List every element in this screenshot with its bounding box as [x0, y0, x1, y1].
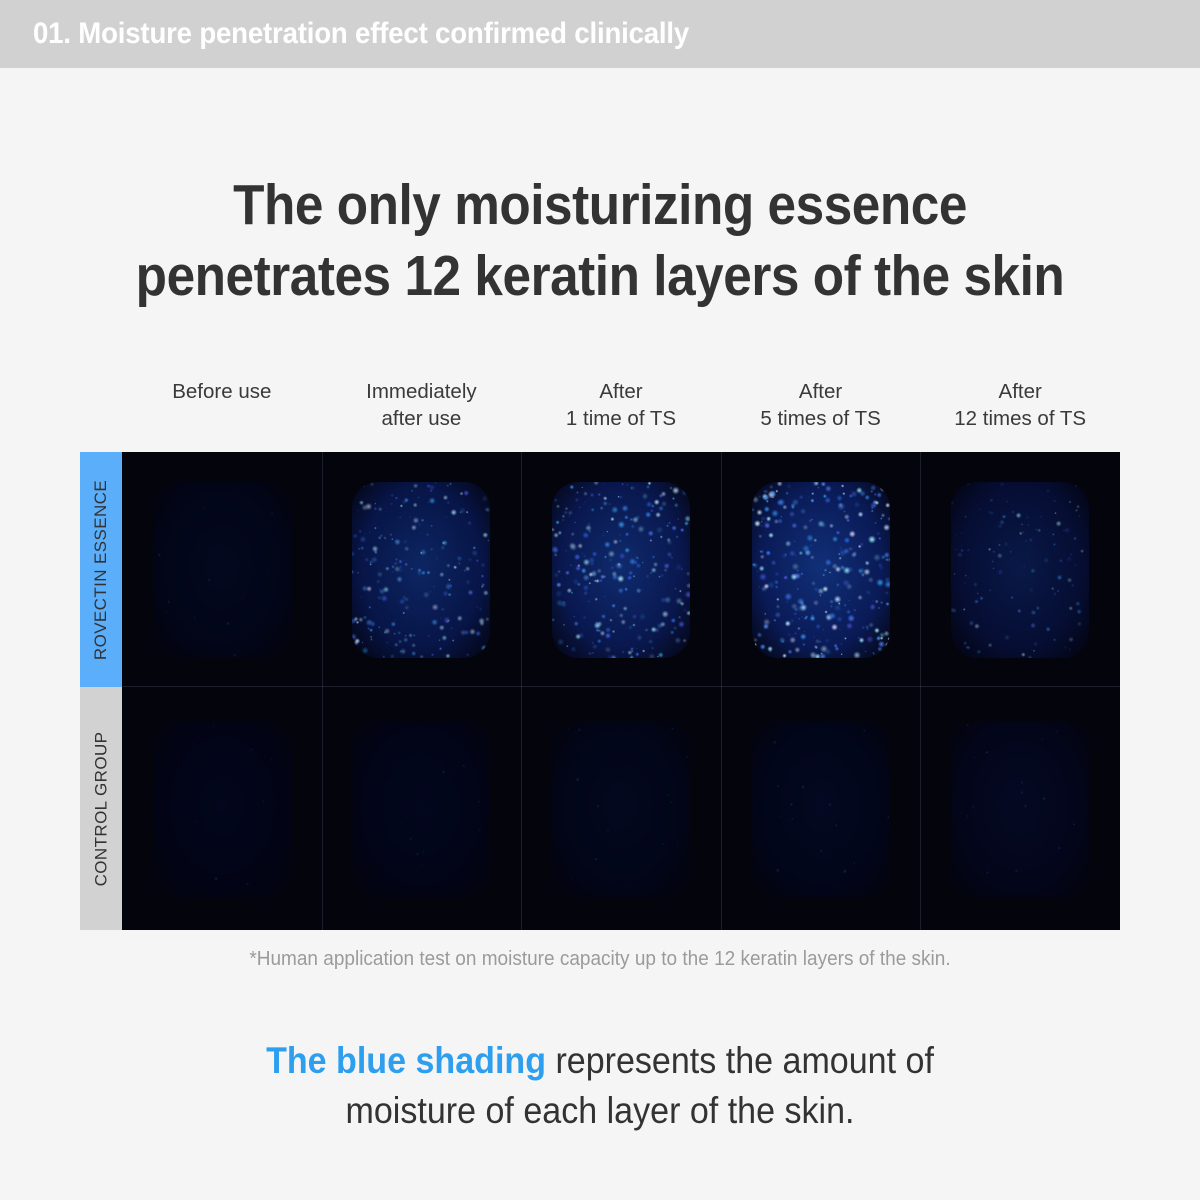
column-separator	[721, 687, 722, 930]
column-header-line-2: 12 times of TS	[920, 405, 1120, 432]
patch-speckles	[153, 721, 291, 897]
fluorescence-patch	[153, 482, 291, 658]
column-header-line-1: After	[920, 378, 1120, 405]
fluorescence-patch	[552, 482, 690, 658]
grid-cell-control-after-1-time	[521, 687, 721, 930]
grid-cell-control-after-5-times	[721, 687, 921, 930]
headline-line-1: The only moisturizing essence	[60, 170, 1140, 241]
headline-line-2: penetrates 12 keratin layers of the skin	[60, 241, 1140, 312]
patch-speckles	[752, 482, 890, 658]
column-header-after-1-time: After 1 time of TS	[521, 378, 721, 432]
column-header-after-12-times: After 12 times of TS	[920, 378, 1120, 432]
column-separator	[322, 452, 323, 687]
fluorescence-patch	[352, 721, 490, 897]
fluorescence-patch	[153, 721, 291, 897]
figure-column-headers: Before use Immediately after use After 1…	[122, 378, 1120, 432]
caption-highlight: The blue shading	[266, 1040, 546, 1081]
row-label-rovectin-essence: ROVECTIN ESSENCE	[80, 452, 122, 687]
patch-speckles	[552, 482, 690, 658]
row-label-control-group-text: CONTROL GROUP	[91, 731, 111, 886]
fluorescence-patch	[752, 482, 890, 658]
page-headline: The only moisturizing essence penetrates…	[0, 170, 1200, 312]
column-separator	[521, 452, 522, 687]
column-header-line-1: Immediately	[322, 378, 522, 405]
column-header-line-2: 1 time of TS	[521, 405, 721, 432]
grid-row-control-group	[122, 687, 1120, 930]
column-header-line-1: After	[521, 378, 721, 405]
grid-cell-essence-after-5-times	[721, 452, 921, 687]
patch-speckles	[552, 721, 690, 897]
column-header-line-1: After	[721, 378, 921, 405]
column-separator	[920, 687, 921, 930]
column-header-line-2: after use	[322, 405, 522, 432]
fluorescence-patch	[951, 482, 1089, 658]
column-header-line-2: 5 times of TS	[721, 405, 921, 432]
column-separator	[920, 452, 921, 687]
figure-row-labels: ROVECTIN ESSENCE CONTROL GROUP	[80, 452, 122, 930]
column-header-immediately-after-use: Immediately after use	[322, 378, 522, 432]
grid-cell-essence-immediately-after-use	[322, 452, 522, 687]
caption-line-2: moisture of each layer of the skin.	[48, 1086, 1152, 1136]
patch-speckles	[752, 721, 890, 897]
row-label-control-group: CONTROL GROUP	[80, 687, 122, 930]
grid-cell-control-after-12-times	[920, 687, 1120, 930]
column-header-after-5-times: After 5 times of TS	[721, 378, 921, 432]
page-banner: 01. Moisture penetration effect confirme…	[0, 0, 1200, 68]
grid-cell-essence-before-use	[122, 452, 322, 687]
figure-caption: The blue shading represents the amount o…	[0, 1036, 1200, 1136]
column-separator	[721, 452, 722, 687]
column-header-line-2: Before use	[122, 378, 322, 405]
patch-speckles	[951, 482, 1089, 658]
figure-footnote: *Human application test on moisture capa…	[30, 948, 1170, 971]
grid-row-rovectin-essence	[122, 452, 1120, 687]
grid-cell-essence-after-12-times	[920, 452, 1120, 687]
fluorescence-patch	[352, 482, 490, 658]
patch-speckles	[352, 482, 490, 658]
fluorescence-figure: ROVECTIN ESSENCE CONTROL GROUP	[80, 452, 1120, 930]
column-header-before-use: Before use	[122, 378, 322, 432]
column-separator	[322, 687, 323, 930]
caption-line-1: The blue shading represents the amount o…	[48, 1036, 1152, 1086]
fluorescence-patch	[552, 721, 690, 897]
caption-line-1-rest: represents the amount of	[546, 1040, 934, 1081]
fluorescence-patch	[752, 721, 890, 897]
grid-cell-control-before-use	[122, 687, 322, 930]
fluorescence-patch	[951, 721, 1089, 897]
patch-speckles	[352, 721, 490, 897]
grid-cell-essence-after-1-time	[521, 452, 721, 687]
fluorescence-image-grid	[122, 452, 1120, 930]
grid-cell-control-immediately-after-use	[322, 687, 522, 930]
banner-title: 01. Moisture penetration effect confirme…	[33, 17, 689, 51]
row-label-rovectin-essence-text: ROVECTIN ESSENCE	[91, 479, 111, 659]
patch-speckles	[153, 482, 291, 658]
column-separator	[521, 687, 522, 930]
patch-speckles	[951, 721, 1089, 897]
